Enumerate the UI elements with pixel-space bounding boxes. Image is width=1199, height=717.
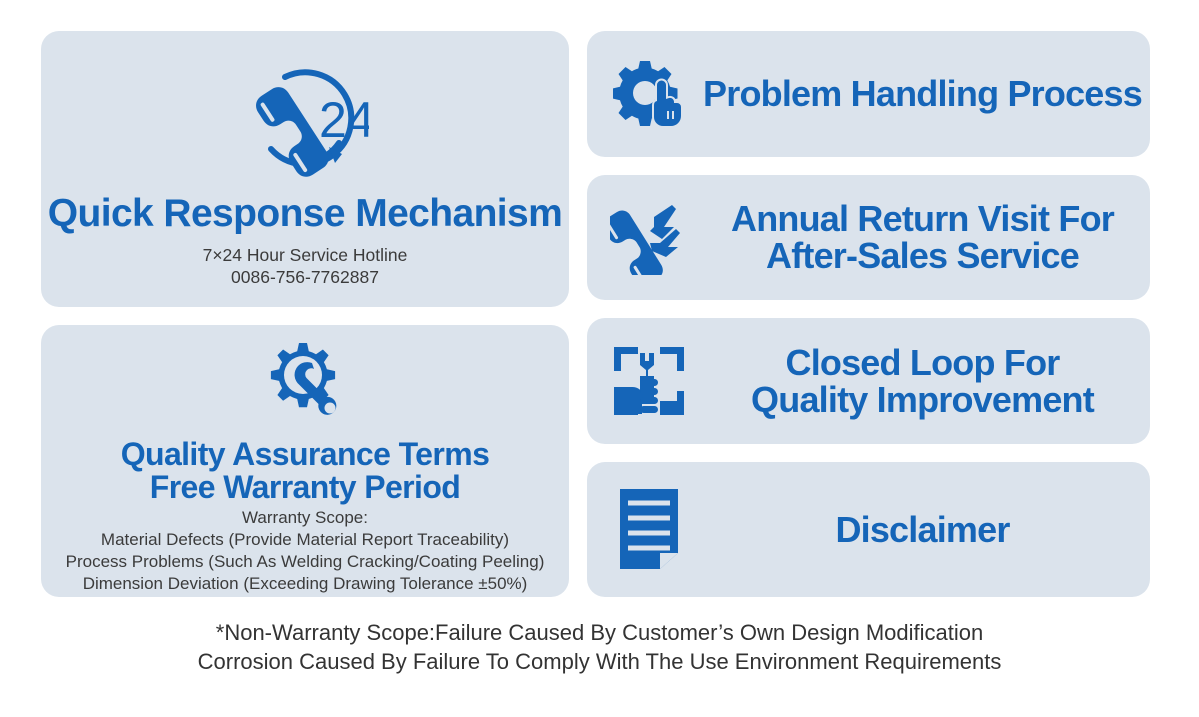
card-annual-return-visit[interactable]: Annual Return Visit For After-Sales Serv… bbox=[587, 175, 1150, 301]
left-column: 24 Quick Response Mechanism 7×24 Hour Se… bbox=[41, 31, 569, 597]
warranty-scope-block: Warranty Scope: Material Defects (Provid… bbox=[66, 507, 545, 594]
card-closed-loop-title: Closed Loop For Quality Improvement bbox=[695, 344, 1150, 419]
warranty-scope-label: Warranty Scope: bbox=[242, 508, 368, 527]
card-problem-handling[interactable]: Problem Handling Process bbox=[587, 31, 1150, 157]
footer-line-1: *Non-Warranty Scope:Failure Caused By Cu… bbox=[0, 618, 1199, 647]
disclaimer-title-line-1: Disclaimer bbox=[835, 509, 1009, 550]
warranty-scope-item-1: Process Problems (Such As Welding Cracki… bbox=[66, 552, 545, 571]
card-problem-handling-title: Problem Handling Process bbox=[695, 75, 1150, 112]
gear-wrench-icon bbox=[259, 343, 351, 434]
warranty-scope-item-2: Dimension Deviation (Exceeding Drawing T… bbox=[83, 574, 528, 593]
closed-loop-title-line-2: Quality Improvement bbox=[751, 379, 1094, 420]
warranty-scope-item-0: Material Defects (Provide Material Repor… bbox=[101, 530, 509, 549]
card-quality-assurance[interactable]: Quality Assurance Terms Free Warranty Pe… bbox=[41, 325, 569, 597]
hotline-label: 7×24 Hour Service Hotline bbox=[203, 245, 408, 265]
card-disclaimer-title: Disclaimer bbox=[695, 511, 1150, 548]
svg-text:24: 24 bbox=[319, 92, 369, 148]
card-quick-response-subtitle: 7×24 Hour Service Hotline 0086-756-77628… bbox=[203, 244, 408, 289]
card-closed-loop[interactable]: Closed Loop For Quality Improvement bbox=[587, 318, 1150, 444]
quality-title-line-2: Free Warranty Period bbox=[150, 469, 460, 505]
right-column: Problem Handling Process bbox=[587, 31, 1150, 597]
phone-24h-icon: 24 bbox=[241, 59, 369, 184]
card-annual-return-visit-title: Annual Return Visit For After-Sales Serv… bbox=[695, 200, 1150, 275]
document-lines-icon bbox=[603, 487, 695, 571]
hand-wrench-frame-icon bbox=[603, 343, 695, 419]
quality-title-line-1: Quality Assurance Terms bbox=[121, 436, 490, 472]
annual-title-line-2: After-Sales Service bbox=[766, 235, 1079, 276]
annual-title-line-1: Annual Return Visit For bbox=[731, 198, 1114, 239]
problem-title-line-1: Problem Handling Process bbox=[703, 73, 1142, 114]
gear-cursor-icon bbox=[603, 59, 695, 129]
footer-note: *Non-Warranty Scope:Failure Caused By Cu… bbox=[0, 618, 1199, 677]
phone-return-arrows-icon bbox=[603, 199, 695, 275]
footer-line-2: Corrosion Caused By Failure To Comply Wi… bbox=[0, 647, 1199, 676]
card-disclaimer[interactable]: Disclaimer bbox=[587, 462, 1150, 597]
hotline-number: 0086-756-7762887 bbox=[231, 267, 379, 287]
closed-loop-title-line-1: Closed Loop For bbox=[786, 342, 1060, 383]
card-quality-assurance-title: Quality Assurance Terms Free Warranty Pe… bbox=[121, 438, 490, 503]
card-quick-response-title: Quick Response Mechanism bbox=[48, 194, 562, 235]
cards-grid: 24 Quick Response Mechanism 7×24 Hour Se… bbox=[41, 31, 1150, 597]
infographic-page: 24 Quick Response Mechanism 7×24 Hour Se… bbox=[0, 0, 1199, 717]
card-quick-response[interactable]: 24 Quick Response Mechanism 7×24 Hour Se… bbox=[41, 31, 569, 307]
